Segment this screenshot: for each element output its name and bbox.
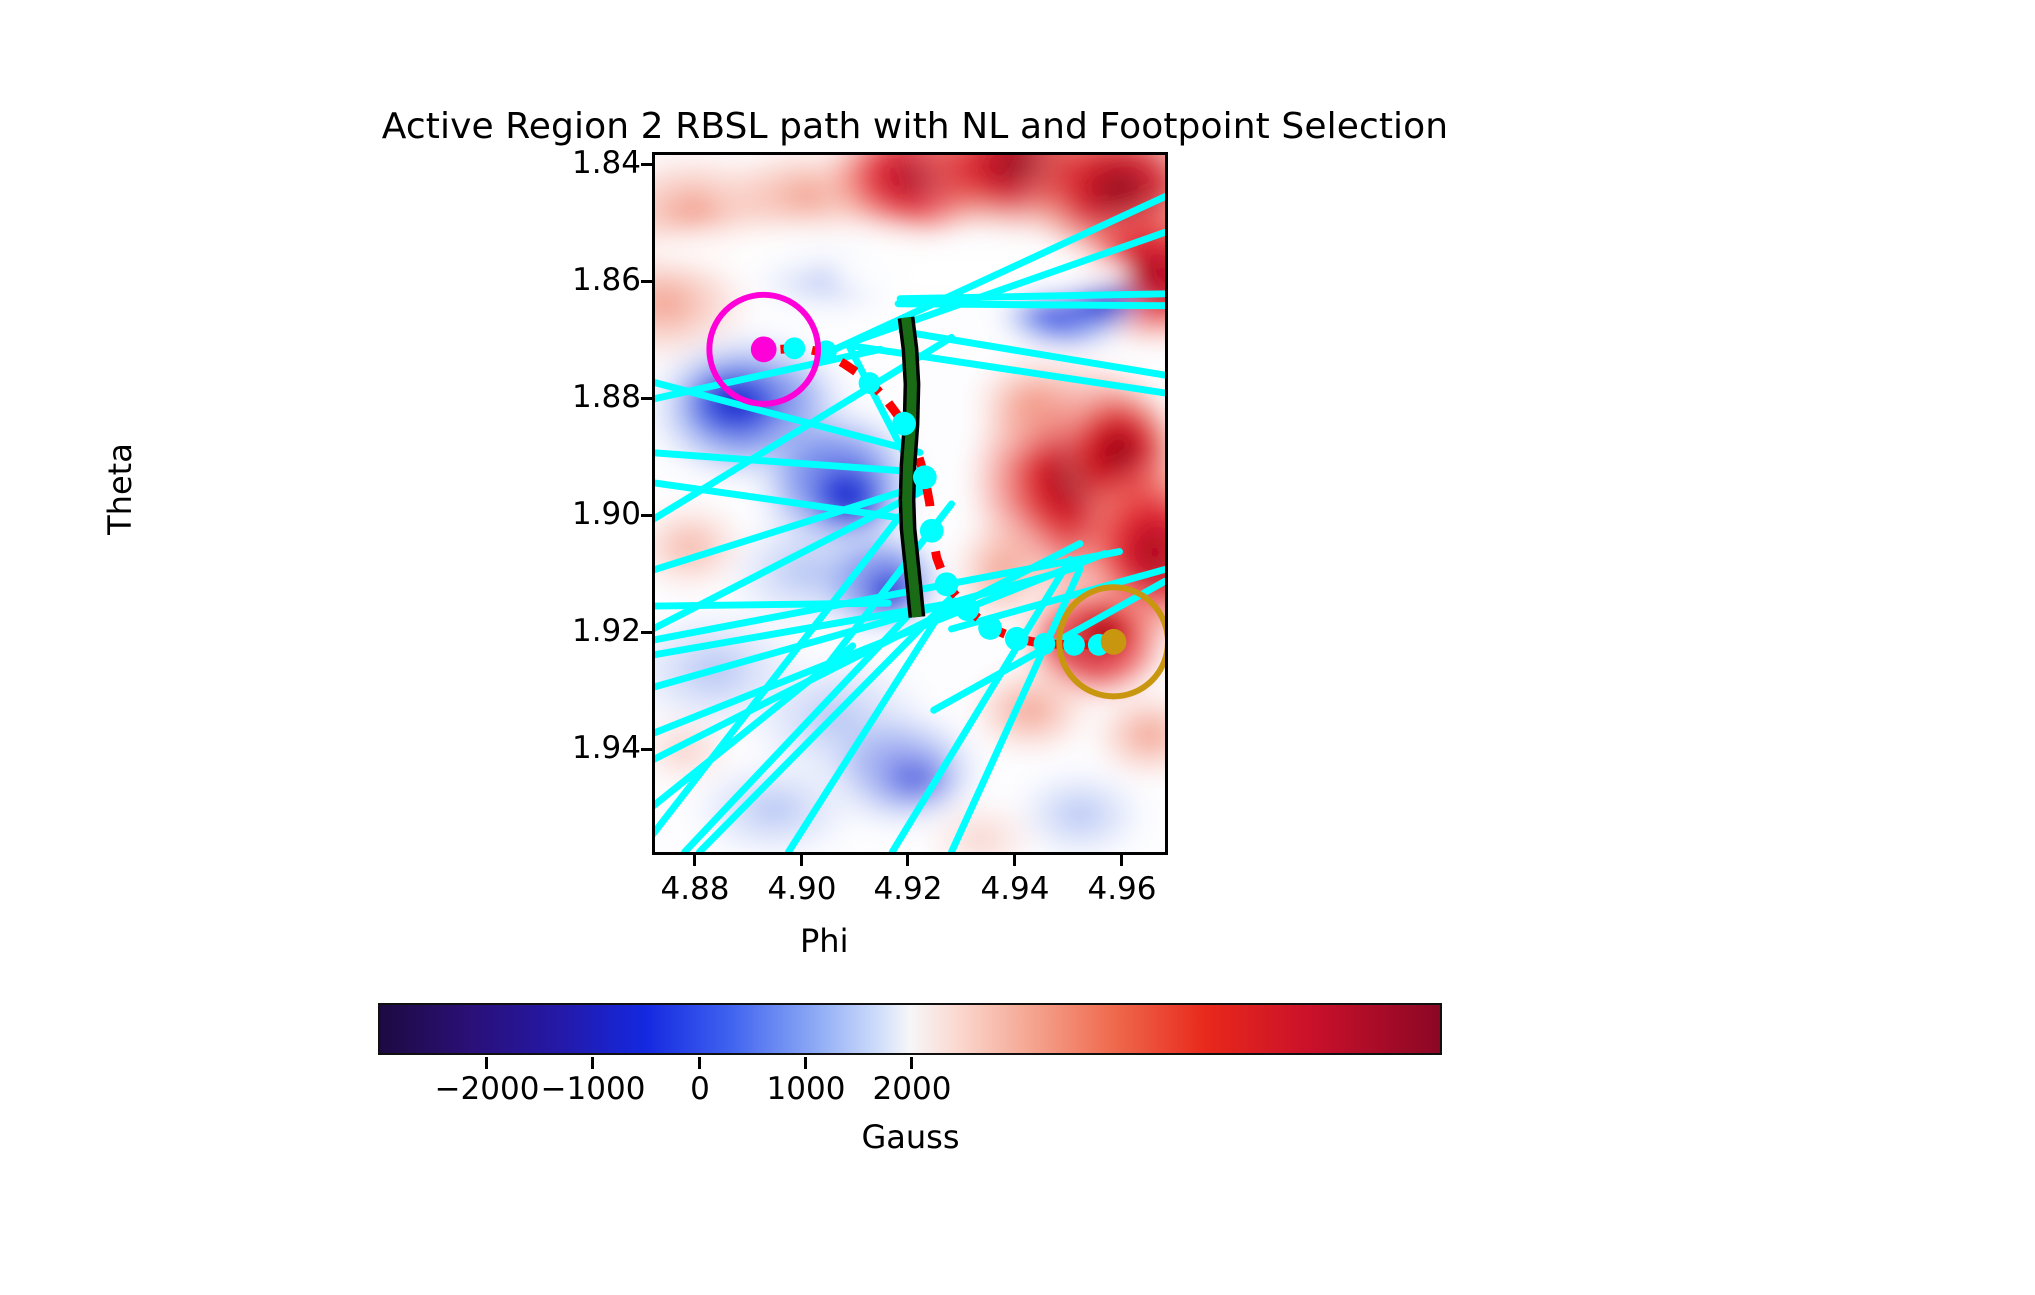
ytick-label: 1.92 [572, 616, 641, 647]
xtick-mark [906, 855, 909, 866]
xtick-label: 4.96 [1087, 874, 1156, 905]
ytick-label: 1.88 [572, 382, 641, 413]
xtick-label: 4.94 [980, 874, 1049, 905]
xtick-label: 4.88 [660, 874, 729, 905]
footpoint-marker [913, 465, 937, 489]
ytick-mark [641, 748, 652, 751]
ytick-label: 1.84 [572, 148, 641, 179]
positive-footpoint-dot [1101, 629, 1127, 655]
magnetogram-axes[interactable] [652, 152, 1168, 855]
colorbar-tick-label: −1000 [541, 1074, 646, 1105]
colorbar-label-text: Gauss [861, 1118, 959, 1156]
colorbar-tick-mark [485, 1057, 488, 1069]
ytick-mark [641, 631, 652, 634]
footpoint-marker [1034, 633, 1056, 655]
ytick-mark [641, 397, 652, 400]
colorbar-tick-mark [591, 1057, 594, 1069]
figure-canvas: Active Region 2 RBSL path with NL and Fo… [0, 0, 2035, 1295]
footpoint-marker [955, 597, 979, 621]
xtick-mark [693, 855, 696, 866]
ytick-mark [641, 514, 652, 517]
xtick-label: 4.92 [873, 874, 942, 905]
footpoint-marker [783, 337, 805, 359]
ytick-mark [641, 280, 652, 283]
y-axis-label: Theta [101, 359, 139, 619]
xtick-mark [1120, 855, 1123, 866]
footpoint-marker [1063, 634, 1085, 656]
colorbar[interactable] [378, 1003, 1442, 1055]
xtick-mark [1013, 855, 1016, 866]
colorbar-tick-mark [804, 1057, 807, 1069]
ytick-label: 1.90 [572, 499, 641, 530]
field-line [898, 304, 1165, 306]
magnetogram-plot [655, 155, 1165, 852]
footpoint-marker [892, 412, 916, 436]
footpoint-marker [920, 519, 944, 543]
colorbar-gradient [378, 1003, 1442, 1055]
colorbar-tick-label: 2000 [873, 1074, 952, 1105]
colorbar-tick-mark [698, 1057, 701, 1069]
negative-footpoint-dot [751, 336, 777, 362]
footpoint-marker [935, 572, 959, 596]
footpoint-marker [1005, 627, 1029, 651]
colorbar-label: Gauss [0, 1118, 2035, 1156]
colorbar-tick-mark [910, 1057, 913, 1069]
colorbar-tick-label: 1000 [767, 1074, 846, 1105]
xtick-label: 4.90 [767, 874, 836, 905]
x-axis-label: Phi [800, 922, 848, 960]
colorbar-tick-label: −2000 [435, 1074, 540, 1105]
colorbar-tick-label: 0 [690, 1074, 710, 1105]
field-line [900, 294, 1165, 299]
ytick-label: 1.86 [572, 265, 641, 296]
page-title: Active Region 2 RBSL path with NL and Fo… [0, 106, 1830, 147]
footpoint-marker [859, 372, 881, 394]
ytick-label: 1.94 [572, 733, 641, 764]
ytick-mark [641, 163, 652, 166]
footpoint-marker [978, 616, 1002, 640]
xtick-mark [800, 855, 803, 866]
